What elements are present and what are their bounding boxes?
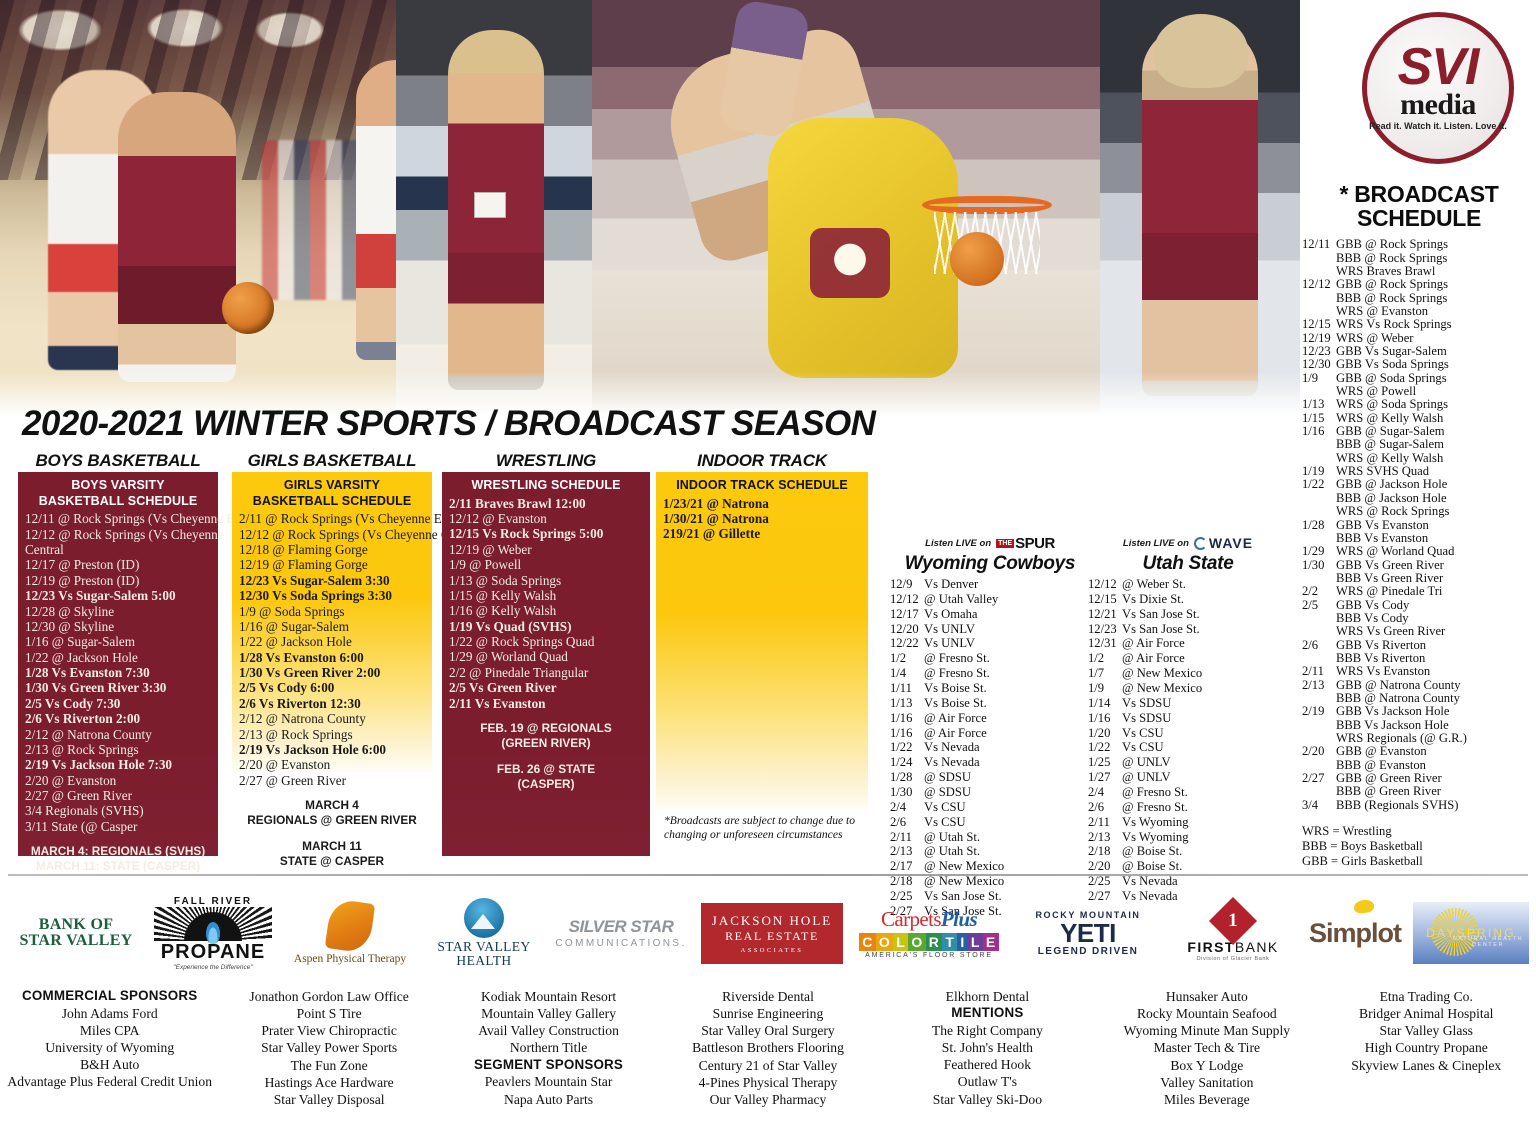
bosv-line2: STAR VALLEY [19, 933, 132, 949]
college-game-opponent: Vs Wyoming [1122, 830, 1288, 845]
sponsor-column: Kodiak Mountain ResortMountain Valley Ga… [439, 988, 658, 1108]
college-game-row: 2/18@ Boise St. [1088, 844, 1288, 859]
broadcast-date [1302, 305, 1336, 318]
broadcast-event: WRS @ Rock Springs [1336, 505, 1536, 518]
broadcast-event: WRS Vs Evanston [1336, 665, 1536, 678]
sponsor-name: Napa Auto Parts [439, 1091, 658, 1108]
sponsor-name: Our Valley Pharmacy [658, 1091, 877, 1108]
schedule-game-item: 1/9 @ Powell [449, 557, 643, 572]
college-game-opponent: @ Air Force [924, 711, 1090, 726]
logo-dayspring: DAYSPRING NATURAL HEALTH CENTER [1412, 886, 1530, 980]
listen-live-label-wyoming: Listen LIVE on [925, 538, 991, 549]
broadcast-event: GBB Vs Riverton [1336, 639, 1536, 652]
broadcast-date: 1/29 [1302, 545, 1336, 558]
broadcast-date: 2/13 [1302, 679, 1336, 692]
broadcast-date [1302, 492, 1336, 505]
schedule-game-item: 1/22 @ Rock Springs Quad [449, 634, 643, 649]
broadcast-row: 1/19WRS SVHS Quad [1302, 465, 1536, 478]
sponsor-name: Sunrise Engineering [658, 1005, 877, 1022]
broadcast-row: 12/30GBB Vs Soda Springs [1302, 358, 1536, 371]
broadcast-row: BBB Vs Cody [1302, 612, 1536, 625]
svh-line2: HEALTH [437, 954, 530, 968]
college-game-row: 2/17@ New Mexico [890, 859, 1090, 874]
college-game-date: 1/16 [890, 726, 924, 741]
sponsor-name: Elkhorn Dental [878, 988, 1097, 1005]
college-game-row: 2/11Vs Wyoming [1088, 815, 1288, 830]
broadcast-date: 3/4 [1302, 799, 1336, 812]
schedule-game-item: 1/9 @ Soda Springs [239, 604, 425, 619]
broadcast-date: 12/19 [1302, 332, 1336, 345]
ssc-line1-text: SILVER STAR [569, 917, 674, 936]
broadcast-schedule-panel: * BROADCAST SCHEDULE 12/11GBB @ Rock Spr… [1302, 182, 1536, 869]
college-game-row: 12/31@ Air Force [1088, 636, 1288, 651]
sponsor-name: Valley Sanitation [1097, 1074, 1316, 1091]
college-game-date: 12/17 [890, 607, 924, 622]
firstbank-diamond-icon: 1 [1209, 897, 1257, 945]
sponsor-column: Riverside DentalSunrise EngineeringStar … [658, 988, 877, 1108]
broadcast-row: 2/2WRS @ Pinedale Tri [1302, 585, 1536, 598]
college-game-date: 1/7 [1088, 666, 1122, 681]
broadcast-event: GBB @ Soda Springs [1336, 372, 1536, 385]
college-game-date: 1/9 [1088, 681, 1122, 696]
indoor-track-photo [396, 0, 592, 420]
schedule-game-item: 2/19 Vs Jackson Hole 7:30 [25, 757, 211, 772]
college-game-opponent: Vs San Jose St. [1122, 622, 1288, 637]
college-game-row: 1/14Vs SDSU [1088, 696, 1288, 711]
broadcast-event: GBB Vs Cody [1336, 599, 1536, 612]
utahstate-game-list: 12/12@ Weber St.12/15Vs Dixie St.12/21Vs… [1088, 577, 1288, 904]
star-valley-player [118, 92, 236, 382]
broadcast-row: WRS Vs Green River [1302, 625, 1536, 638]
broadcast-row: BBB @ Evanston [1302, 759, 1536, 772]
girls-footer-line2: REGIONALS @ GREEN RIVER [247, 813, 416, 827]
broadcast-row: BBB Vs Evanston [1302, 532, 1536, 545]
schedule-game-item: 219/21 @ Gillette [663, 526, 861, 541]
schedule-game-item: 12/19 @ Preston (ID) [25, 573, 211, 588]
college-game-row: 12/12@ Utah Valley [890, 592, 1090, 607]
broadcast-row: 1/22GBB @ Jackson Hole [1302, 478, 1536, 491]
wrestling-footer-line4: (CASPER) [517, 777, 574, 791]
broadcast-row: 1/29WRS @ Worland Quad [1302, 545, 1536, 558]
boys-basketball-schedule-box: BOYS VARSITY BASKETBALL SCHEDULE 12/11 @… [18, 472, 218, 856]
sponsor-name: Rocky Mountain Seafood [1097, 1005, 1316, 1022]
college-game-opponent: Vs CSU [1122, 740, 1288, 755]
schedule-game-item: 12/12 @ Evanston [449, 511, 643, 526]
broadcast-row: BBB @ Jackson Hole [1302, 492, 1536, 505]
college-game-row: 1/2@ Fresno St. [890, 651, 1090, 666]
broadcast-row: BBB @ Green River [1302, 785, 1536, 798]
sponsor-name: Avail Valley Construction [439, 1022, 658, 1039]
college-game-row: 2/4Vs CSU [890, 800, 1090, 815]
college-game-date: 12/12 [890, 592, 924, 607]
firstbank-bank: BANK [1235, 939, 1279, 955]
college-game-row: 2/6Vs CSU [890, 815, 1090, 830]
girls-footer-line4: STATE @ CASPER [280, 854, 384, 868]
broadcast-row: BBB Vs Jackson Hole [1302, 719, 1536, 732]
broadcast-event: GBB @ Evanston [1336, 745, 1536, 758]
schedule-game-item: Central [25, 542, 211, 557]
bosv-line1: BANK OF [19, 917, 132, 933]
boys-schedule-footer: MARCH 4: REGIONALS (SVHS) MARCH 11: STAT… [25, 844, 211, 875]
sponsor-name: Hastings Ace Hardware [219, 1074, 438, 1091]
broadcast-date [1302, 625, 1336, 638]
schedule-game-item: 12/23 Vs Sugar-Salem 5:00 [25, 588, 211, 603]
cp-line1: CarpetsPlus [881, 907, 977, 932]
broadcast-row: 12/12GBB @ Rock Springs [1302, 278, 1536, 291]
logo-first-bank: 1 FIRSTBANK Division of Glacier Bank [1170, 886, 1296, 980]
broadcast-row: 1/13WRS @ Soda Springs [1302, 398, 1536, 411]
college-game-opponent: Vs CSU [1122, 726, 1288, 741]
broadcast-date: 1/9 [1302, 372, 1336, 385]
college-game-date: 1/16 [1088, 711, 1122, 726]
college-game-date: 1/20 [1088, 726, 1122, 741]
boys-title-line1: BOYS VARSITY [71, 478, 164, 492]
page-title: 2020-2021 WINTER SPORTS / BROADCAST SEAS… [22, 404, 875, 444]
sponsor-name: Century 21 of Star Valley [658, 1057, 877, 1074]
sponsor-name: University of Wyoming [0, 1039, 219, 1056]
schedule-game-item: 1/16 @ Sugar-Salem [239, 619, 425, 634]
schedule-game-item: 1/15 @ Kelly Walsh [449, 588, 643, 603]
broadcast-row: WRS @ Kelly Walsh [1302, 452, 1536, 465]
college-game-opponent: @ Utah St. [924, 844, 1090, 859]
girls-basketball-schedule-box: GIRLS VARSITY BASKETBALL SCHEDULE 2/11 @… [232, 472, 432, 772]
firstbank-one: 1 [1228, 910, 1238, 932]
schedule-game-item: 2/13 @ Rock Springs [25, 742, 211, 757]
college-game-date: 2/4 [1088, 785, 1122, 800]
sponsor-logo-row: BANK OF STAR VALLEY FALL RIVER PROPANE "… [0, 886, 1536, 980]
schedule-game-item: 1/23/21 @ Natrona [663, 496, 861, 511]
sport-heading-girls-basketball: GIRLS BASKETBALL [232, 451, 432, 471]
cp-colortile-blocks: COLORTILE [859, 933, 998, 951]
broadcast-row: 2/13GBB @ Natrona County [1302, 679, 1536, 692]
college-game-date: 1/14 [1088, 696, 1122, 711]
ssc-line2: COMMUNICATIONS. [555, 938, 686, 949]
sponsor-name: Battleson Brothers Flooring [658, 1039, 877, 1056]
schedule-game-item: 12/18 @ Flaming Gorge [239, 542, 425, 557]
wyoming-cowboys-schedule: Listen LIVE on THE SPUR Wyoming Cowboys … [890, 534, 1090, 919]
broadcast-event: BBB @ Evanston [1336, 759, 1536, 772]
boys-title-line2: BASKETBALL SCHEDULE [39, 494, 198, 508]
broadcast-date: 2/19 [1302, 705, 1336, 718]
broadcast-row: 1/16GBB @ Sugar-Salem [1302, 425, 1536, 438]
basketball [222, 282, 274, 334]
wrestling-footer-line3: FEB. 26 @ STATE [497, 762, 595, 776]
sponsor-name: Etna Trading Co. [1317, 988, 1536, 1005]
wrestling-game-list: 2/11 Braves Brawl 12:0012/12 @ Evanston1… [449, 496, 643, 711]
svi-media-logo: SVI media Read it. Watch it. Listen. Lov… [1362, 12, 1514, 164]
college-game-opponent: @ UNLV [1122, 770, 1288, 785]
sponsor-name: 4-Pines Physical Therapy [658, 1074, 877, 1091]
broadcast-date [1302, 292, 1336, 305]
broadcast-row: 12/19WRS @ Weber [1302, 332, 1536, 345]
college-game-opponent: Vs Boise St. [924, 681, 1090, 696]
logo-carpetsplus-colortile: CarpetsPlus COLORTILE AMERICA'S FLOOR ST… [850, 886, 1008, 980]
broadcast-row: WRS @ Evanston [1302, 305, 1536, 318]
schedule-game-item: 2/11 Braves Brawl 12:00 [449, 496, 643, 511]
broadcast-date [1302, 652, 1336, 665]
schedule-game-item: 2/20 @ Evanston [239, 757, 425, 772]
college-game-date: 2/4 [890, 800, 924, 815]
sponsor-name: Peavlers Mountain Star [439, 1073, 658, 1090]
broadcast-row: 1/28GBB Vs Evanston [1302, 519, 1536, 532]
sport-heading-boys-basketball: BOYS BASKETBALL [18, 451, 218, 471]
broadcast-event: BBB @ Rock Springs [1336, 292, 1536, 305]
sponsor-name: Riverside Dental [658, 988, 877, 1005]
college-game-row: 12/17Vs Omaha [890, 607, 1090, 622]
section-divider [8, 874, 1528, 876]
broadcast-legend-item: GBB = Girls Basketball [1302, 854, 1536, 869]
broadcast-date: 2/27 [1302, 772, 1336, 785]
broadcast-date: 2/11 [1302, 665, 1336, 678]
schedule-game-item: 12/30 @ Skyline [25, 619, 211, 634]
broadcast-date: 2/2 [1302, 585, 1336, 598]
broadcast-event: BBB Vs Jackson Hole [1336, 719, 1536, 732]
broadcast-row: 2/6GBB Vs Riverton [1302, 639, 1536, 652]
jh-box: JACKSON HOLE REAL ESTATE ASSOCIATES [701, 903, 843, 964]
wyoming-game-list: 12/9Vs Denver12/12@ Utah Valley12/17Vs O… [890, 577, 1090, 919]
broadcast-date: 2/6 [1302, 639, 1336, 652]
broadcast-event: GBB Vs Soda Springs [1336, 358, 1536, 371]
college-game-row: 1/16Vs SDSU [1088, 711, 1288, 726]
broadcast-row: BBB @ Rock Springs [1302, 252, 1536, 265]
schedule-game-item: 2/5 Vs Cody 7:30 [25, 696, 211, 711]
broadcast-event: GBB @ Sugar-Salem [1336, 425, 1536, 438]
broadcast-date [1302, 719, 1336, 732]
fallriver-top-text: FALL RIVER [154, 896, 272, 907]
schedule-game-item: 12/19 @ Flaming Gorge [239, 557, 425, 572]
sponsor-name: The Right Company [878, 1022, 1097, 1039]
sponsor-name: Star Valley Glass [1317, 1022, 1536, 1039]
sponsor-name: Miles CPA [0, 1022, 219, 1039]
college-game-row: 1/24Vs Nevada [890, 755, 1090, 770]
girls-basketball-photo [1100, 0, 1300, 420]
boys-game-list: 12/11 @ Rock Springs (Vs Cheyenne East12… [25, 511, 211, 834]
college-game-opponent: @ Boise St. [1122, 859, 1288, 874]
broadcast-row: 12/11GBB @ Rock Springs [1302, 238, 1536, 251]
second-opposing-player [356, 60, 396, 360]
aspen-leaf-icon [325, 898, 376, 954]
schedule-game-item: 2/6 Vs Riverton 2:00 [25, 711, 211, 726]
schedule-game-item: 2/5 Vs Green River [449, 680, 643, 695]
sponsor-name: The Fun Zone [219, 1057, 438, 1074]
logo-aspen-physical-therapy: Aspen Physical Therapy [282, 886, 418, 980]
sponsor-name: Skyview Lanes & Cineplex [1317, 1057, 1536, 1074]
broadcast-disclaimer: *Broadcasts are subject to change due to… [664, 814, 872, 843]
broadcast-event: GBB Vs Sugar-Salem [1336, 345, 1536, 358]
college-game-row: 2/13Vs Wyoming [1088, 830, 1288, 845]
college-game-row: 2/20@ Boise St. [1088, 859, 1288, 874]
college-game-opponent: @ Fresno St. [1122, 800, 1288, 815]
logo-bank-of-star-valley: BANK OF STAR VALLEY [8, 886, 144, 980]
player-hair [1154, 14, 1248, 88]
yeti-line3: LEGEND DRIVEN [1038, 946, 1138, 957]
schedule-game-item: 1/22 @ Jackson Hole [25, 650, 211, 665]
sponsor-name: Hunsaker Auto [1097, 988, 1316, 1005]
schedule-game-item: 2/27 @ Green River [25, 788, 211, 803]
wrestling-schedule-title: WRESTLING SCHEDULE [449, 478, 643, 494]
sponsor-name: Box Y Lodge [1097, 1057, 1316, 1074]
schedule-game-item: 2/11 Vs Evanston [449, 696, 643, 711]
girls-footer-line1: MARCH 4 [305, 798, 359, 812]
broadcast-event: BBB @ Jackson Hole [1336, 492, 1536, 505]
broadcast-row: 2/19GBB Vs Jackson Hole [1302, 705, 1536, 718]
sponsor-name: Point S Tire [219, 1005, 438, 1022]
schedule-game-item: 2/27 @ Green River [239, 773, 425, 788]
college-game-row: 2/6@ Fresno St. [1088, 800, 1288, 815]
sponsor-name: B&H Auto [0, 1056, 219, 1073]
sponsor-column: Jonathon Gordon Law OfficePoint S TirePr… [219, 988, 438, 1108]
broadcast-event: GBB @ Green River [1336, 772, 1536, 785]
svh-text: STAR VALLEY HEALTH [437, 940, 530, 968]
college-game-opponent: Vs Wyoming [1122, 815, 1288, 830]
college-game-row: 12/23Vs San Jose St. [1088, 622, 1288, 637]
college-game-row: 12/9Vs Denver [890, 577, 1090, 592]
svh-line1: STAR VALLEY [437, 940, 530, 954]
broadcast-date: 12/11 [1302, 238, 1336, 251]
schedule-game-item: 12/30 Vs Soda Springs 3:30 [239, 588, 425, 603]
broadcast-date [1302, 505, 1336, 518]
sponsor-column: Etna Trading Co.Bridger Animal HospitalS… [1317, 988, 1536, 1108]
college-game-opponent: @ Fresno St. [924, 651, 1090, 666]
college-game-opponent: @ New Mexico [924, 859, 1090, 874]
schedule-game-item: 12/19 @ Weber [449, 542, 643, 557]
utahstate-listen-row: Listen LIVE on WAVE [1088, 534, 1288, 552]
broadcast-date: 12/15 [1302, 318, 1336, 331]
college-game-opponent: @ Air Force [1122, 636, 1288, 651]
broadcast-row: 1/9GBB @ Soda Springs [1302, 372, 1536, 385]
the-spur-logo: THE SPUR [996, 535, 1055, 552]
broadcast-date [1302, 438, 1336, 451]
college-game-row: 2/11@ Utah St. [890, 830, 1090, 845]
broadcast-row: WRS Braves Brawl [1302, 265, 1536, 278]
spur-word-text: SPUR [1015, 535, 1055, 552]
race-bib [474, 192, 506, 218]
college-game-opponent: Vs SDSU [1122, 696, 1288, 711]
broadcast-event: WRS @ Kelly Walsh [1336, 412, 1536, 425]
broadcast-event: WRS @ Pinedale Tri [1336, 585, 1536, 598]
college-game-row: 12/20Vs UNLV [890, 622, 1090, 637]
wrestling-photo [592, 0, 1100, 420]
broadcast-event: WRS @ Kelly Walsh [1336, 452, 1536, 465]
schedule-game-item: 3/4 Regionals (SVHS) [25, 803, 211, 818]
college-game-opponent: @ Utah Valley [924, 592, 1090, 607]
flame-icon [206, 922, 220, 944]
college-game-row: 1/28@ SDSU [890, 770, 1090, 785]
college-game-date: 1/25 [1088, 755, 1122, 770]
broadcast-date: 1/30 [1302, 559, 1336, 572]
sponsor-group-header: MENTIONS [878, 1005, 1097, 1022]
college-game-date: 12/12 [1088, 577, 1122, 592]
broadcast-row: BBB @ Natrona County [1302, 692, 1536, 705]
broadcast-event: WRS Vs Rock Springs [1336, 318, 1536, 331]
fallriver-word: PROPANE [154, 941, 272, 964]
college-game-opponent: @ SDSU [924, 785, 1090, 800]
schedule-game-item: 2/5 Vs Cody 6:00 [239, 680, 425, 695]
college-game-date: 12/15 [1088, 592, 1122, 607]
svi-logo-text: SVI [1398, 45, 1479, 91]
broadcast-date [1302, 265, 1336, 278]
broadcast-event: BBB @ Sugar-Salem [1336, 438, 1536, 451]
college-game-date: 2/20 [1088, 859, 1122, 874]
broadcast-legend-item: BBB = Boys Basketball [1302, 839, 1536, 854]
schedule-game-item: 1/13 @ Soda Springs [449, 573, 643, 588]
broadcast-row: 2/27GBB @ Green River [1302, 772, 1536, 785]
broadcast-date: 2/5 [1302, 599, 1336, 612]
broadcast-date: 1/19 [1302, 465, 1336, 478]
logo-silver-star-communications: SILVER STAR COMMUNICATIONS. [546, 886, 696, 980]
broadcast-event: WRS @ Powell [1336, 385, 1536, 398]
schedule-game-item: 1/22 @ Jackson Hole [239, 634, 425, 649]
broadcast-title-line1: * BROADCAST [1340, 181, 1499, 207]
broadcast-date [1302, 785, 1336, 798]
dayspring-line2: NATURAL HEALTH CENTER [1447, 936, 1529, 948]
college-game-date: 1/4 [890, 666, 924, 681]
broadcast-row: 1/15WRS @ Kelly Walsh [1302, 412, 1536, 425]
sponsor-name: Kodiak Mountain Resort [439, 988, 658, 1005]
logo-jackson-hole-real-estate: JACKSON HOLE REAL ESTATE ASSOCIATES [700, 886, 844, 980]
broadcast-event: BBB Vs Riverton [1336, 652, 1536, 665]
broadcast-event: BBB @ Green River [1336, 785, 1536, 798]
sponsor-name: Star Valley Disposal [219, 1091, 438, 1108]
broadcast-date: 1/28 [1302, 519, 1336, 532]
schedule-game-item: 12/12 @ Rock Springs (Vs Cheyenne Centra… [239, 527, 425, 542]
college-game-row: 12/22Vs UNLV [890, 636, 1090, 651]
sponsor-name: Miles Beverage [1097, 1091, 1316, 1108]
college-game-date: 12/9 [890, 577, 924, 592]
college-game-opponent: @ Air Force [924, 726, 1090, 741]
sport-heading-wrestling: WRESTLING [442, 451, 650, 471]
broadcast-event: WRS SVHS Quad [1336, 465, 1536, 478]
sponsor-name: Bridger Animal Hospital [1317, 1005, 1536, 1022]
college-game-date: 1/22 [1088, 740, 1122, 755]
broadcast-row: 2/11WRS Vs Evanston [1302, 665, 1536, 678]
broadcast-row: 2/20GBB @ Evanston [1302, 745, 1536, 758]
sponsor-group-header: SEGMENT SPONSORS [439, 1057, 658, 1074]
boys-schedule-title: BOYS VARSITY BASKETBALL SCHEDULE [25, 478, 211, 509]
broadcast-row: WRS @ Rock Springs [1302, 505, 1536, 518]
girls-title-line2: BASKETBALL SCHEDULE [253, 494, 412, 508]
college-game-opponent: Vs Omaha [924, 607, 1090, 622]
college-game-row: 1/25@ UNLV [1088, 755, 1288, 770]
college-game-row: 1/22Vs CSU [1088, 740, 1288, 755]
broadcast-row: BBB Vs Riverton [1302, 652, 1536, 665]
boys-footer-line2: MARCH 11: STATE (CASPER) [36, 859, 200, 873]
broadcast-row: 3/4BBB (Regionals SVHS) [1302, 799, 1536, 812]
schedule-game-item: 1/30 Vs Green River 2:00 [239, 665, 425, 680]
college-game-opponent: @ SDSU [924, 770, 1090, 785]
schedule-game-item: 1/29 @ Worland Quad [449, 649, 643, 664]
wrestling-schedule-footer: FEB. 19 @ REGIONALS (GREEN RIVER) FEB. 2… [449, 721, 643, 792]
college-game-row: 12/21Vs San Jose St. [1088, 607, 1288, 622]
schedule-game-item: 2/6 Vs Riverton 12:30 [239, 696, 425, 711]
college-game-date: 2/11 [890, 830, 924, 845]
college-game-opponent: Vs SDSU [1122, 711, 1288, 726]
college-game-date: 1/13 [890, 696, 924, 711]
college-game-row: 1/22Vs Nevada [890, 740, 1090, 755]
cp-carpets-text: Carpets [881, 907, 941, 931]
schedule-game-item: 2/12 @ Natrona County [239, 711, 425, 726]
broadcast-row: BBB Vs Green River [1302, 572, 1536, 585]
broadcast-date: 1/16 [1302, 425, 1336, 438]
college-game-opponent: Vs Boise St. [924, 696, 1090, 711]
schedule-game-item: 2/2 @ Pinedale Triangular [449, 665, 643, 680]
broadcast-date [1302, 732, 1336, 745]
college-game-opponent: Vs Nevada [924, 740, 1090, 755]
broadcast-date [1302, 452, 1336, 465]
schedule-game-item: 12/17 @ Preston (ID) [25, 557, 211, 572]
broadcast-event: BBB (Regionals SVHS) [1336, 799, 1536, 812]
logo-simplot: Simplot [1300, 886, 1410, 980]
